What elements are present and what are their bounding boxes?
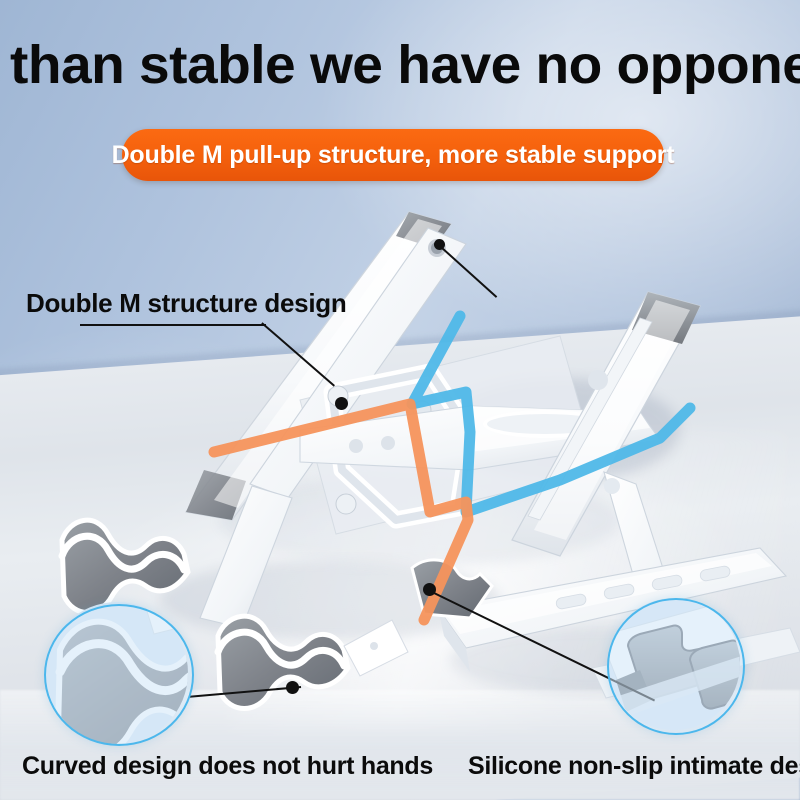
product-marketing-image: than stable we have no opponent Double M… [0,0,800,800]
leader-dot-curved-pad [286,681,299,694]
leader-line-main-underline [80,324,266,326]
leader-dot-hinge-lower [335,397,348,410]
promo-banner-text: Double M pull-up structure, more stable … [112,141,675,170]
callout-circle-curved-foot-pad [44,604,194,746]
annotation-bottom-left-label: Curved design does not hurt hands [22,752,433,781]
callout-circle-silicone-pads [607,598,745,735]
annotation-main-label: Double M structure design [26,288,346,319]
annotation-bottom-right-label: Silicone non-slip intimate design [468,752,800,781]
leader-dot-hinge-upper [434,239,445,250]
promo-banner: Double M pull-up structure, more stable … [122,129,664,181]
leader-dot-silicone [423,583,436,596]
page-headline: than stable we have no opponent [10,28,800,102]
